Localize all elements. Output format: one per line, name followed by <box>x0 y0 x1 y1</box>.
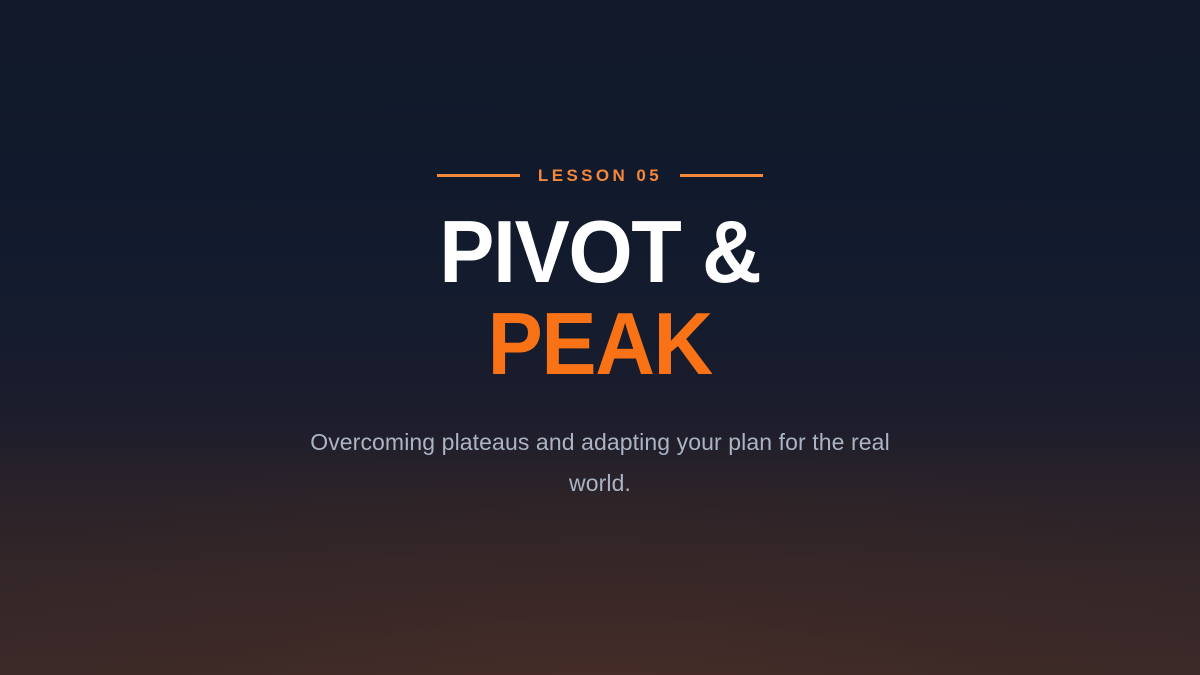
lesson-number-label: LESSON 05 <box>538 167 662 184</box>
page-title-line-primary: PIVOT & <box>439 206 760 298</box>
page-title: PIVOT & PEAK <box>429 206 771 389</box>
slide-content: LESSON 05 PIVOT & PEAK Overcoming platea… <box>0 0 1200 675</box>
divider-rule-left <box>437 174 520 177</box>
divider-rule-right <box>680 174 763 177</box>
page-title-line-accent: PEAK <box>439 298 760 390</box>
lesson-eyebrow: LESSON 05 <box>437 163 763 187</box>
lesson-title-slide: LESSON 05 PIVOT & PEAK Overcoming platea… <box>0 0 1200 675</box>
slide-subtitle: Overcoming plateaus and adapting your pl… <box>280 422 920 504</box>
